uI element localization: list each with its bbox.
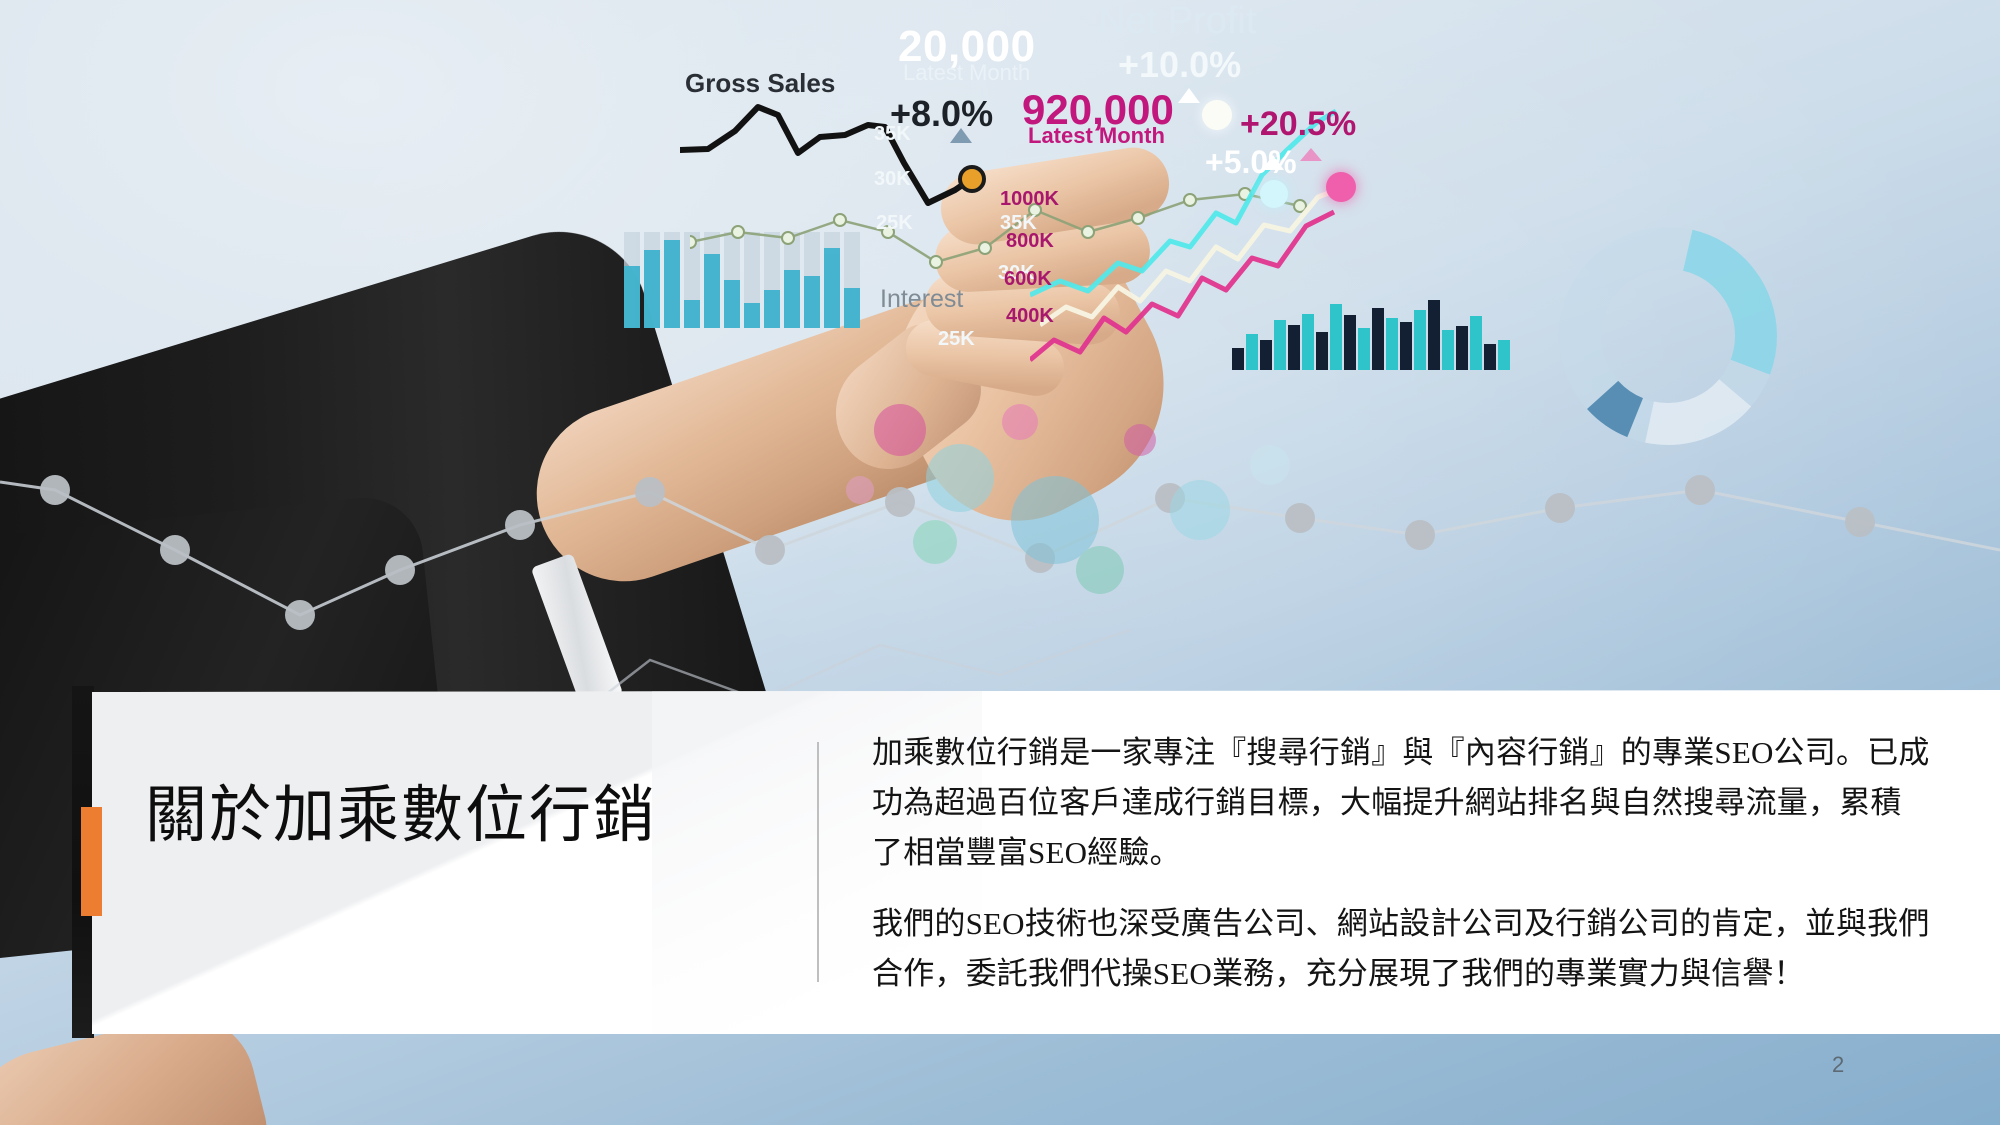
metric-caption-revenue-latest: Latest Month [1028,123,1165,149]
axis-tick-1000k: 1000K [1000,188,1059,211]
triangle-marker-pink [1300,148,1322,161]
page-number: 2 [1832,1052,1844,1078]
data-point-pink [1326,172,1356,202]
axis-tick-30k-a: 30K [874,168,911,191]
metric-caption-gross-latest: Latest Month [903,60,1030,86]
title-accent-bar [81,807,102,916]
metric-value-netprofit-change: +10.0% [1118,44,1241,86]
vertical-divider [817,742,819,982]
dual-bar-chart [1230,290,1520,370]
axis-tick-35k-a: 35K [874,123,911,146]
data-point-orange [958,165,986,193]
donut-chart [1548,216,1788,456]
axis-tick-25k-b: 25K [938,328,975,351]
triangle-marker-white-1 [1178,88,1200,103]
data-point-white [1202,100,1232,130]
page-title: 關於加乘數位行銷 [145,780,765,853]
axis-tick-800k: 800K [1006,230,1054,253]
body-text-column: 加乘數位行銷是一家專注『搜尋行銷』與『內容行銷』的專業SEO公司。已成功為超過百… [872,728,1932,999]
bokeh-bubbles [840,370,1360,600]
body-paragraph-1: 加乘數位行銷是一家專注『搜尋行銷』與『內容行銷』的專業SEO公司。已成功為超過百… [872,728,1932,879]
axis-tick-25k-a: 25K [876,212,913,235]
chart-label-interest: Interest [880,285,963,314]
chart-label-net-profit: Net Profit [1098,0,1256,43]
axis-tick-400k: 400K [1006,305,1054,328]
chart-label-gross-sales: Gross Sales [685,68,835,99]
metric-value-growth-5: +5.0% [1205,144,1297,181]
body-paragraph-2: 我們的SEO技術也深受廣告公司、網站設計公司及行銷公司的肯定，並與我們合作，委託… [872,899,1932,999]
axis-tick-600k: 600K [1004,268,1052,291]
data-point-cyan [1260,180,1288,208]
slide-root: Gross Sales Interest Net Profit 20,000 L… [0,0,2000,1125]
metric-value-growth-205: +20.5% [1240,105,1356,144]
